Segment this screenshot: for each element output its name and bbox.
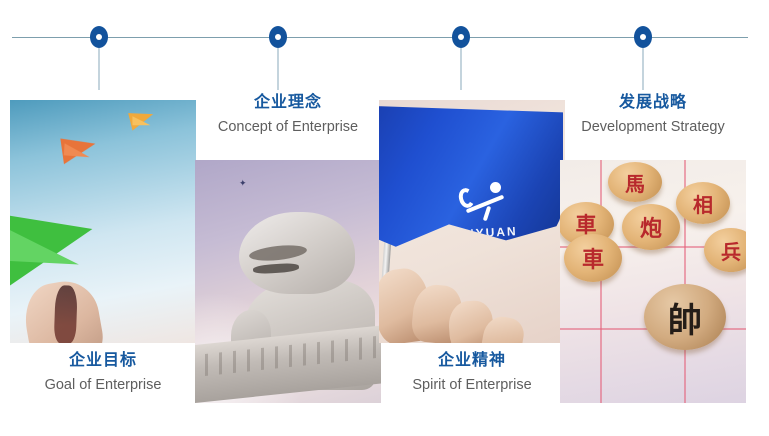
chess-piece: 兵 bbox=[704, 228, 746, 272]
marker-hole-icon bbox=[275, 34, 281, 40]
timeline-infographic: 企业目标 Goal of Enterprise 企业理念 Concept of … bbox=[0, 0, 769, 436]
chess-piece: 馬 bbox=[608, 162, 662, 202]
photo-chinese-chess: 馬 相 車 炮 兵 車 帥 bbox=[560, 160, 746, 403]
timeline-marker-4[interactable] bbox=[634, 26, 652, 48]
connector-stem-2 bbox=[278, 48, 279, 90]
logo-leg bbox=[483, 206, 491, 222]
paper-plane-green-icon bbox=[10, 203, 98, 291]
photo-company-flag: SENYUAN bbox=[379, 100, 565, 343]
chess-piece: 車 bbox=[564, 234, 622, 282]
chess-glyph: 兵 bbox=[704, 228, 746, 272]
chess-glyph: 帥 bbox=[644, 284, 726, 350]
paper-plane-orange-icon bbox=[60, 134, 97, 164]
chess-glyph: 炮 bbox=[622, 204, 680, 250]
marker-hole-icon bbox=[96, 34, 102, 40]
logo-head-dot bbox=[490, 182, 501, 193]
timeline-marker-1[interactable] bbox=[90, 26, 108, 48]
connector-stem-4 bbox=[643, 48, 644, 90]
caption-goal: 企业目标 Goal of Enterprise bbox=[10, 350, 196, 396]
caption-concept: 企业理念 Concept of Enterprise bbox=[195, 92, 381, 138]
card-title-en: Concept of Enterprise bbox=[195, 116, 381, 138]
card-title-cn: 企业精神 bbox=[379, 350, 565, 372]
card-title-en: Goal of Enterprise bbox=[10, 374, 196, 396]
photo-stone-lion: ✦ bbox=[195, 160, 381, 403]
bird-icon: ✦ bbox=[239, 180, 249, 186]
card-title-en: Spirit of Enterprise bbox=[379, 374, 565, 396]
hands-group bbox=[379, 243, 565, 343]
marker-hole-icon bbox=[458, 34, 464, 40]
chess-piece: 相 bbox=[676, 182, 730, 224]
chess-piece-foreground: 帥 bbox=[644, 284, 726, 350]
photo-paper-airplanes bbox=[10, 100, 196, 343]
timeline-marker-3[interactable] bbox=[452, 26, 470, 48]
card-title-en: Development Strategy bbox=[560, 116, 746, 138]
chess-glyph: 相 bbox=[676, 182, 730, 224]
timeline-marker-2[interactable] bbox=[269, 26, 287, 48]
connector-stem-3 bbox=[461, 48, 462, 90]
caption-strategy: 发展战略 Development Strategy bbox=[560, 92, 746, 138]
company-logo-icon bbox=[459, 182, 507, 222]
chess-piece: 炮 bbox=[622, 204, 680, 250]
chess-glyph: 馬 bbox=[608, 162, 662, 202]
marker-hole-icon bbox=[640, 34, 646, 40]
caption-spirit: 企业精神 Spirit of Enterprise bbox=[379, 350, 565, 396]
card-title-cn: 发展战略 bbox=[560, 92, 746, 114]
connector-stem-1 bbox=[99, 48, 100, 90]
card-title-cn: 企业理念 bbox=[195, 92, 381, 114]
chess-glyph: 車 bbox=[564, 234, 622, 282]
card-title-cn: 企业目标 bbox=[10, 350, 196, 372]
